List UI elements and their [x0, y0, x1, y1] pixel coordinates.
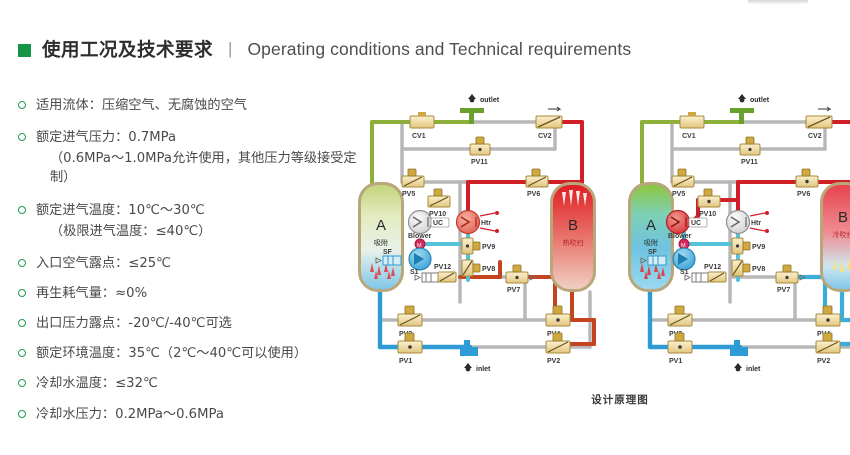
- circle-bullet-icon: [18, 133, 26, 141]
- check-valve-CV1: CV1: [680, 112, 704, 140]
- pv12-label: PV12: [434, 264, 451, 271]
- s1-label: S1: [680, 269, 689, 276]
- outlet-port: outlet: [730, 94, 770, 124]
- circle-bullet-icon: [18, 349, 26, 357]
- page-title: 使用工况及技术要求 | Operating conditions and Tec…: [18, 36, 631, 62]
- heater-Htr: Htr: [457, 211, 500, 234]
- pv12-label: PV12: [704, 264, 721, 271]
- process-diagrams: outlet: [350, 92, 840, 392]
- blower-label: Blower: [668, 233, 692, 240]
- valve-PV5: PV5: [672, 169, 694, 198]
- circle-bullet-icon: [18, 259, 26, 267]
- tower-A-letter: A: [646, 217, 656, 234]
- spec-text: 额定进气温度：10℃～30℃: [36, 201, 211, 220]
- tower-B-letter: B: [838, 209, 848, 226]
- pipe-blue-inlet: [380, 282, 470, 347]
- valve-PV6: PV6: [796, 169, 818, 198]
- outlet-port: outlet: [460, 94, 500, 124]
- check-valve-CV1: CV1: [410, 112, 434, 140]
- diagram-cold-purge: outlet: [620, 92, 850, 377]
- valve-PV7: PV7: [506, 265, 535, 294]
- valve-PV10: PV10: [428, 189, 450, 218]
- tower-B: B 冷吹扫: [820, 182, 850, 292]
- sf-label: SF: [383, 249, 393, 256]
- spec-text: 冷却水压力：0.2MPa～0.6MPa: [36, 405, 224, 424]
- spec-text: 入口空气露点：≤25℃: [36, 254, 171, 273]
- inlet-port: inlet: [460, 340, 491, 373]
- valve-PV7: PV7: [776, 265, 805, 294]
- valve-PV11: PV11: [740, 137, 760, 166]
- pv6-label: PV6: [797, 191, 810, 198]
- blower: Blower M: [408, 233, 432, 270]
- circle-bullet-icon: [18, 379, 26, 387]
- circle-bullet-icon: [18, 289, 26, 297]
- list-item: 入口空气露点：≤25℃: [16, 254, 366, 273]
- slide-root: 使用工况及技术要求 | Operating conditions and Tec…: [0, 0, 850, 455]
- pipe-blue-inlet: [650, 282, 740, 347]
- circle-bullet-icon: [18, 410, 26, 418]
- inlet-port: inlet: [730, 340, 761, 373]
- pv11-label: PV11: [741, 159, 758, 166]
- spec-subtext: （0.6MPa～1.0MPa允许使用，其他压力等级接受定制）: [50, 149, 366, 187]
- spec-text: 额定环境温度：35℃（2℃～40℃可以使用）: [36, 344, 307, 363]
- circle-bullet-icon: [18, 206, 26, 214]
- spec-text: 冷却水温度：≤32℃: [36, 374, 158, 393]
- pv9-label: PV9: [752, 244, 765, 251]
- list-item: 适用流体：压缩空气、无腐蚀的空气: [16, 96, 366, 115]
- corner-shadow-decoration: [748, 0, 808, 5]
- title-separator: |: [228, 39, 232, 59]
- spec-text: 出口压力露点：-20℃/-40℃可选: [36, 314, 232, 333]
- pv8-label: PV8: [752, 266, 765, 273]
- page-title-cn: 使用工况及技术要求: [42, 36, 213, 62]
- diagram-caption: 设计原理图: [560, 392, 680, 407]
- tower-B-mode: 冷吹扫: [833, 230, 850, 239]
- pv5-label: PV5: [402, 191, 415, 198]
- pv5-label: PV5: [672, 191, 685, 198]
- pv10-label: PV10: [429, 211, 446, 218]
- pv2-label: PV2: [547, 358, 560, 365]
- tower-A: A 吸附: [358, 182, 404, 292]
- outlet-label: outlet: [750, 97, 770, 104]
- valve-PV10: PV10: [698, 189, 720, 218]
- tower-B-mode: 热吹扫: [563, 238, 584, 247]
- tower-A-mode: 吸附: [644, 238, 658, 247]
- circle-bullet-icon: [18, 319, 26, 327]
- sf-label: SF: [648, 249, 658, 256]
- tower-B-letter: B: [568, 217, 578, 234]
- valve-PV6: PV6: [526, 169, 548, 198]
- spec-text: 再生耗气量：≈0%: [36, 284, 147, 303]
- check-valve-CV2: CV2: [536, 107, 562, 140]
- valve-PV11: PV11: [470, 137, 490, 166]
- uc-label: UC: [691, 220, 701, 227]
- uc-label: UC: [433, 220, 443, 227]
- tower-B: B 热吹扫: [550, 182, 596, 292]
- valve-PV8: PV8: [462, 260, 495, 276]
- valve-PV9: PV9: [732, 238, 765, 254]
- pv10-label: PV10: [699, 211, 716, 218]
- cv2-label: CV2: [808, 133, 822, 140]
- htr-label: Htr: [751, 220, 761, 227]
- diagram-hot-purge: outlet: [350, 92, 630, 377]
- s1-label: S1: [410, 269, 419, 276]
- list-item: 出口压力露点：-20℃/-40℃可选: [16, 314, 366, 333]
- tower-A-letter: A: [376, 217, 386, 234]
- spec-subtext: （极限进气温度：≤40℃）: [50, 222, 211, 241]
- list-item: 额定进气压力：0.7MPa （0.6MPa～1.0MPa允许使用，其他压力等级接…: [16, 128, 366, 187]
- spec-text: 额定进气压力：0.7MPa: [36, 128, 366, 147]
- inlet-label: inlet: [476, 366, 491, 373]
- page-title-en: Operating conditions and Technical requi…: [247, 39, 631, 60]
- list-item: 冷却水温度：≤32℃: [16, 374, 366, 393]
- pv7-label: PV7: [777, 287, 790, 294]
- outlet-label: outlet: [480, 97, 500, 104]
- spec-text: 适用流体：压缩空气、无腐蚀的空气: [36, 96, 247, 115]
- list-item: 再生耗气量：≈0%: [16, 284, 366, 303]
- spec-list: 适用流体：压缩空气、无腐蚀的空气 额定进气压力：0.7MPa （0.6MPa～1…: [16, 96, 366, 435]
- htr-label: Htr: [481, 220, 491, 227]
- valve-PV8: PV8: [732, 260, 765, 276]
- cv1-label: CV1: [412, 133, 426, 140]
- check-valve-CV2: CV2: [806, 107, 832, 140]
- list-item: 额定环境温度：35℃（2℃～40℃可以使用）: [16, 344, 366, 363]
- pv11-label: PV11: [471, 159, 488, 166]
- pv1-label: PV1: [399, 358, 412, 365]
- pv9-label: PV9: [482, 244, 495, 251]
- valve-PV5: PV5: [402, 169, 424, 198]
- list-item: 冷却水压力：0.2MPa～0.6MPa: [16, 405, 366, 424]
- tower-A-mode: 吸附: [374, 238, 388, 247]
- list-item: 额定进气温度：10℃～30℃ （极限进气温度：≤40℃）: [16, 201, 366, 241]
- heater-Htr: Htr: [727, 211, 770, 234]
- pv1-label: PV1: [669, 358, 682, 365]
- pv2-label: PV2: [817, 358, 830, 365]
- pv6-label: PV6: [527, 191, 540, 198]
- pv7-label: PV7: [507, 287, 520, 294]
- cv2-label: CV2: [538, 133, 552, 140]
- circle-bullet-icon: [18, 101, 26, 109]
- inlet-label: inlet: [746, 366, 761, 373]
- green-square-icon: [18, 44, 31, 57]
- cv1-label: CV1: [682, 133, 696, 140]
- pv8-label: PV8: [482, 266, 495, 273]
- valve-PV9: PV9: [462, 238, 495, 254]
